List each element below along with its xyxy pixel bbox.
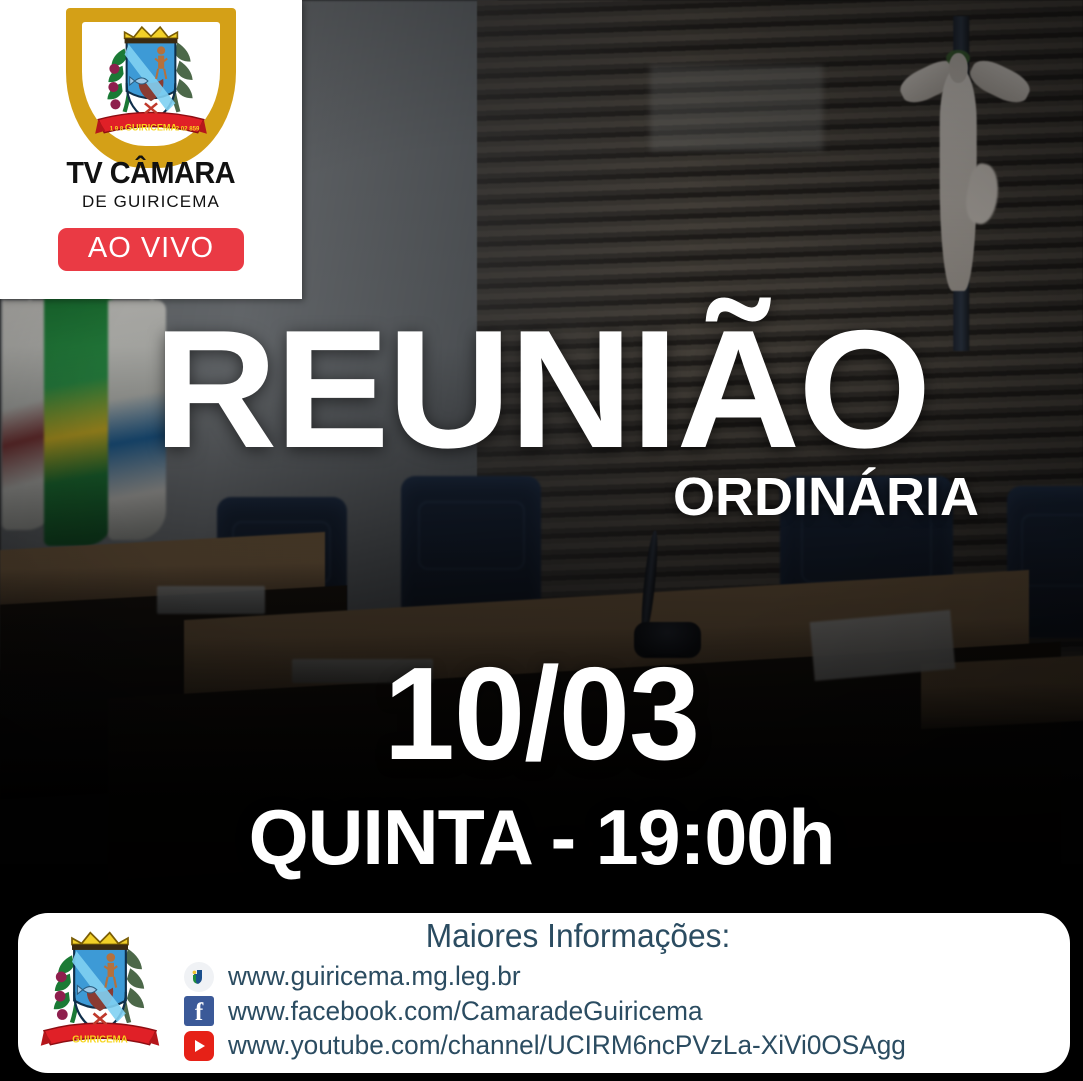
facebook-url[interactable]: www.facebook.com/CamaradeGuiricema — [228, 996, 703, 1028]
poster: GUIRICEMA 1 9 8 2 02 859 TV CÂMARA DE GU… — [0, 0, 1083, 1081]
tv-camara-title: TV CÂMARA — [67, 155, 236, 191]
tv-camara-subtitle: DE GUIRICEMA — [82, 192, 220, 212]
website-icon — [184, 962, 214, 992]
municipal-crest-icon: GUIRICEMA 1 9 8 2 02 859 — [90, 18, 212, 150]
date-day-month: 10/03 — [16, 648, 1067, 780]
link-row-youtube[interactable]: www.youtube.com/channel/UCIRM6ncPVzLa-Xi… — [184, 1030, 1050, 1062]
info-card-content: Maiores Informações: www.guiricema.mg.le… — [166, 921, 1070, 1066]
svg-text:GUIRICEMA: GUIRICEMA — [125, 123, 178, 133]
svg-text:1 9 8: 1 9 8 — [110, 126, 124, 133]
youtube-url[interactable]: www.youtube.com/channel/UCIRM6ncPVzLa-Xi… — [228, 1030, 906, 1062]
facebook-icon: f — [184, 996, 214, 1026]
website-url[interactable]: www.guiricema.mg.leg.br — [228, 961, 521, 993]
link-row-facebook[interactable]: f www.facebook.com/CamaradeGuiricema — [184, 996, 1050, 1028]
info-title: Maiores Informações: — [125, 917, 1031, 955]
info-card: GUIRICEMA Maiores Informações: www.guiri… — [18, 913, 1070, 1073]
date-block: 10/03 QUINTA - 19:00h — [0, 648, 1083, 876]
link-row-website[interactable]: www.guiricema.mg.leg.br — [184, 961, 1050, 993]
tv-camara-logo-card: GUIRICEMA 1 9 8 2 02 859 TV CÂMARA DE GU… — [0, 0, 302, 299]
youtube-icon — [184, 1031, 214, 1061]
date-weekday-time: QUINTA - 19:00h — [5, 798, 1077, 876]
live-badge[interactable]: AO VIVO — [58, 228, 244, 271]
svg-text:2 02 859: 2 02 859 — [176, 126, 200, 133]
svg-text:GUIRICEMA: GUIRICEMA — [72, 1035, 127, 1046]
